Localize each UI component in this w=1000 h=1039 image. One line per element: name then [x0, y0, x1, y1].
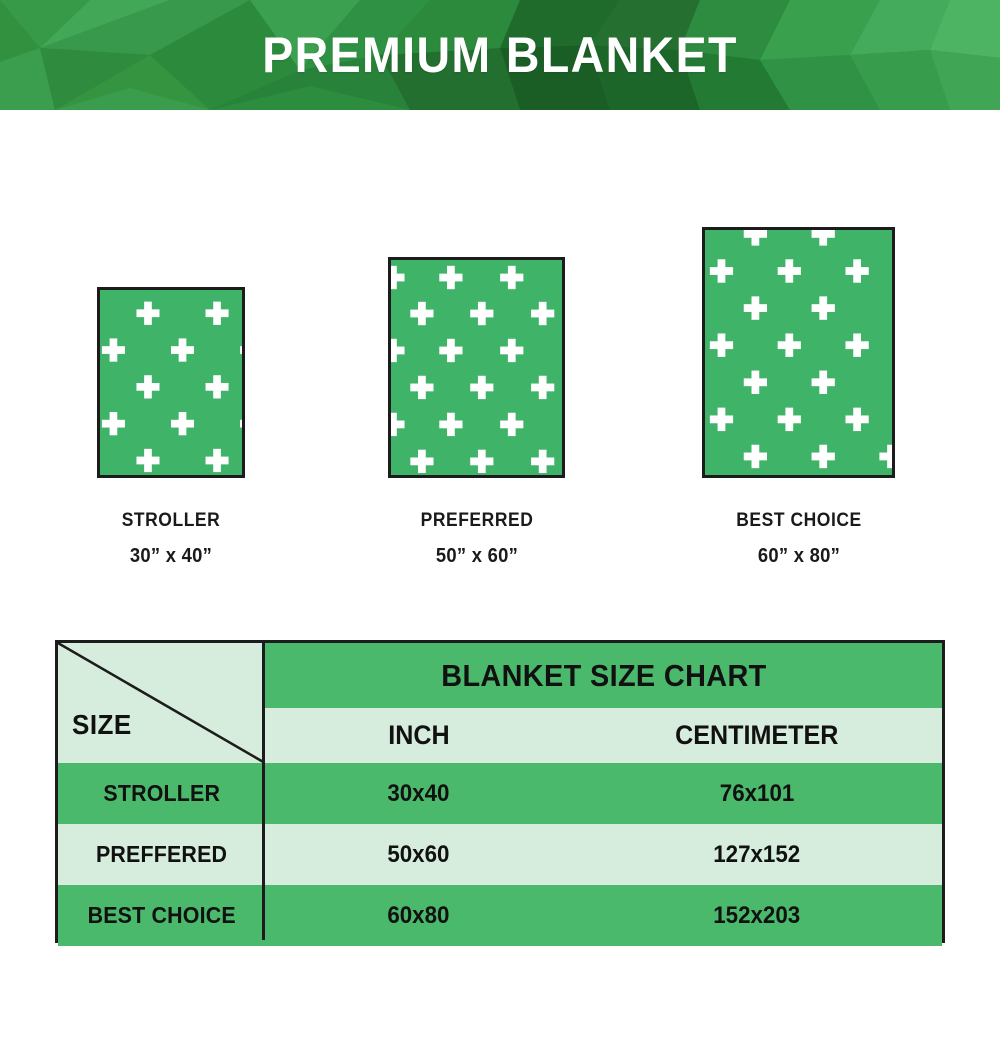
swatch-name-stroller: STROLLER [79, 510, 263, 532]
table-row-inch-best-choice: 60x80 [265, 885, 572, 946]
blanket-swatch-stroller [97, 287, 245, 478]
table-column-divider [262, 643, 265, 940]
swatch-dims-preferred: 50” x 60” [385, 545, 569, 568]
swatch-caption-preferred: PREFERRED 50” x 60” [377, 510, 577, 568]
table-row-inch-stroller: 30x40 [265, 763, 572, 824]
table-cell-text: 76x101 [720, 780, 794, 808]
table-cell-text: STROLLER [103, 780, 220, 807]
swatch-dims-best-choice: 60” x 80” [707, 545, 891, 568]
swatch-caption-best-choice: BEST CHOICE 60” x 80” [699, 510, 899, 568]
swatch-name-preferred: PREFERRED [385, 510, 569, 532]
table-row-centimeter-preffered: 127x152 [572, 824, 942, 885]
table-cell-text: 152x203 [714, 902, 801, 930]
table-corner-cell: SIZE [58, 643, 265, 763]
blanket-swatch-best-choice [702, 227, 895, 478]
page-title: PREMIUM BLANKET [35, 0, 965, 110]
table-header-inch: INCH [265, 708, 572, 763]
table-header-inch-text: INCH [388, 720, 449, 751]
swatch-caption-stroller: STROLLER 30” x 40” [71, 510, 271, 568]
cross-pattern-icon [100, 290, 242, 475]
table-title-text: BLANKET SIZE CHART [441, 658, 766, 694]
table-cell-text: PREFFERED [96, 841, 227, 868]
table-row-centimeter-stroller: 76x101 [572, 763, 942, 824]
table-corner-label: SIZE [72, 709, 132, 741]
table-row-inch-preffered: 50x60 [265, 824, 572, 885]
table-cell-text: 60x80 [387, 902, 449, 930]
blanket-size-table: SIZE BLANKET SIZE CHART INCH CENTIMETER … [55, 640, 945, 943]
table-header-centimeter: CENTIMETER [572, 708, 942, 763]
blanket-swatch-preferred [388, 257, 565, 478]
table-header-centimeter-text: CENTIMETER [675, 720, 838, 751]
table-row-label-stroller: STROLLER [58, 763, 265, 824]
table-cell-text: 30x40 [387, 780, 449, 808]
cross-pattern-icon [705, 230, 892, 475]
table-cell-text: BEST CHOICE [87, 902, 235, 929]
cross-pattern-icon [391, 260, 562, 475]
swatch-name-best-choice: BEST CHOICE [707, 510, 891, 532]
table-title-cell: BLANKET SIZE CHART [265, 643, 942, 708]
table-cell-text: 127x152 [714, 841, 801, 869]
table-cell-text: 50x60 [387, 841, 449, 869]
table-row-centimeter-best-choice: 152x203 [572, 885, 942, 946]
table-row-label-best-choice: BEST CHOICE [58, 885, 265, 946]
header-banner: PREMIUM BLANKET [0, 0, 1000, 110]
swatch-dims-stroller: 30” x 40” [79, 545, 263, 568]
table-row-label-preffered: PREFFERED [58, 824, 265, 885]
diagonal-divider-line [58, 643, 265, 763]
